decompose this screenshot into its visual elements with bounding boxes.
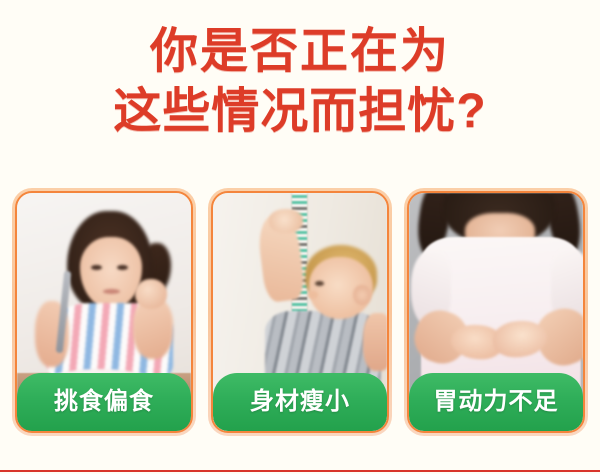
card-frame: 胃动力不足 (407, 191, 585, 433)
bottom-divider (0, 470, 600, 472)
card-caption-banner: 挑食偏食 (17, 373, 191, 431)
concern-card-row: 挑食偏食 (12, 188, 588, 440)
card-caption-label: 胃动力不足 (434, 390, 559, 414)
page-title: 你是否正在为 这些情况而担忧? (0, 22, 600, 142)
poster-root: 你是否正在为 这些情况而担忧? (0, 0, 600, 474)
card-caption-banner: 身材瘦小 (213, 373, 387, 431)
card-caption-label: 身材瘦小 (250, 390, 350, 414)
card-frame: 挑食偏食 (15, 191, 193, 433)
concern-card-weak-digestion[interactable]: 胃动力不足 (404, 188, 588, 436)
headline-line-2: 这些情况而担忧? (0, 82, 600, 142)
concern-card-short-stature[interactable]: 身材瘦小 (208, 188, 392, 436)
concern-card-picky-eating[interactable]: 挑食偏食 (12, 188, 196, 436)
card-frame: 身材瘦小 (211, 191, 389, 433)
card-caption-banner: 胃动力不足 (409, 373, 583, 431)
headline-line-1: 你是否正在为 (0, 22, 600, 82)
card-caption-label: 挑食偏食 (54, 390, 154, 414)
